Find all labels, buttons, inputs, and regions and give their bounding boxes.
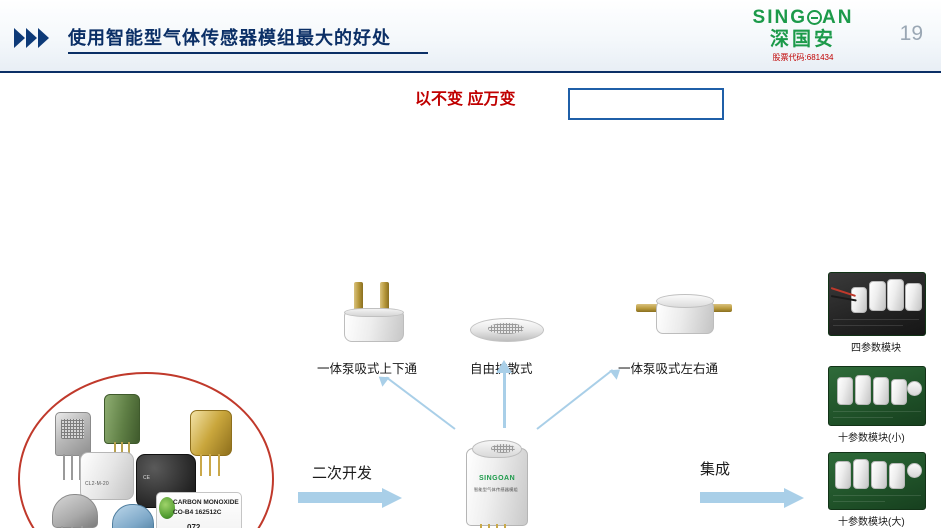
ten-param-module-large	[828, 452, 926, 510]
co-b4-card-sensor: CARBON MONOXIDE CO-B4 162512C 072	[156, 492, 242, 528]
slide-body: CL2-M-20 CE CARBON MONOXIDE CO-B4 162512…	[0, 122, 941, 528]
arrow-to-free-diffusion-head	[496, 360, 512, 373]
page-number: 19	[900, 22, 923, 46]
brand-logo-en-left: SING	[753, 7, 807, 28]
free-diffusion-product	[470, 318, 542, 342]
integration-label: 集成	[700, 458, 730, 479]
module-logo-text: SINGOAN	[479, 475, 515, 482]
title-underline	[68, 52, 428, 54]
module-body: SINGOAN 智能型气体传感器模组	[466, 448, 528, 526]
four-param-module-caption: 四参数模块	[851, 339, 901, 354]
pump-left-right-caption: 一体泵吸式左右通	[618, 358, 718, 377]
gold-can-sensor	[190, 410, 232, 456]
co-card-line-1: CARBON MONOXIDE	[173, 499, 239, 506]
chevron-right-icon	[14, 28, 60, 48]
secondary-development-arrow	[298, 488, 402, 506]
smart-gas-sensor-module: SINGOAN 智能型气体传感器模组	[466, 440, 526, 528]
secondary-development-label: 二次开发	[312, 462, 372, 483]
ten-param-module-small	[828, 366, 926, 426]
header-divider	[0, 71, 941, 73]
arrow-to-free-diffusion-shaft	[503, 372, 506, 428]
empty-callout-box[interactable]	[568, 88, 724, 120]
sensor-mesh-icon	[61, 419, 84, 439]
brand-logo-en: SINGAN	[723, 8, 883, 28]
module-mesh-icon	[491, 444, 515, 453]
brand-logo: SINGAN 深国安 股票代码:681434	[723, 8, 883, 63]
stock-code-label: 股票代码:681434	[723, 52, 883, 63]
pump-lr-top	[656, 294, 714, 308]
green-can-sensor	[104, 394, 140, 444]
pump-up-down-product	[340, 282, 406, 344]
slide-header: 使用智能型气体传感器模组最大的好处 SINGAN 深国安 股票代码:681434…	[0, 0, 941, 73]
page-title: 使用智能型气体传感器模组最大的好处	[68, 24, 391, 50]
four-param-module	[828, 272, 926, 336]
slide-canvas: 使用智能型气体传感器模组最大的好处 SINGAN 深国安 股票代码:681434…	[0, 0, 941, 528]
pump-up-down-caption: 一体泵吸式上下通	[317, 358, 417, 377]
brand-logo-cn: 深国安	[723, 29, 883, 50]
ten-param-module-small-caption: 十参数模块(小)	[838, 429, 905, 444]
module-cap	[472, 440, 522, 458]
brand-logo-en-right: AN	[822, 7, 853, 28]
grey-dome-sensor	[52, 494, 98, 528]
black-can-sensor-label: CE	[143, 475, 150, 481]
globe-icon	[807, 10, 822, 25]
white-can-sensor-label: CL2-M-20	[85, 481, 109, 487]
diffusion-mesh-icon	[488, 323, 524, 334]
integration-arrow	[700, 488, 804, 506]
module-sub-text: 智能型气体传感器模组	[474, 487, 518, 493]
white-can-sensor: CL2-M-20	[80, 452, 134, 500]
co-card-line-2: CO-B4 162512C	[173, 509, 221, 516]
pump-band	[344, 308, 404, 317]
pump-left-right-product	[636, 294, 732, 342]
module-pins	[480, 524, 482, 528]
to39-metal-sensor	[55, 412, 91, 456]
subtitle-text: 以不变 应万变	[415, 85, 515, 109]
ten-param-module-large-caption: 十参数模块(大)	[838, 513, 905, 528]
co-card-line-3: 072	[187, 523, 200, 528]
